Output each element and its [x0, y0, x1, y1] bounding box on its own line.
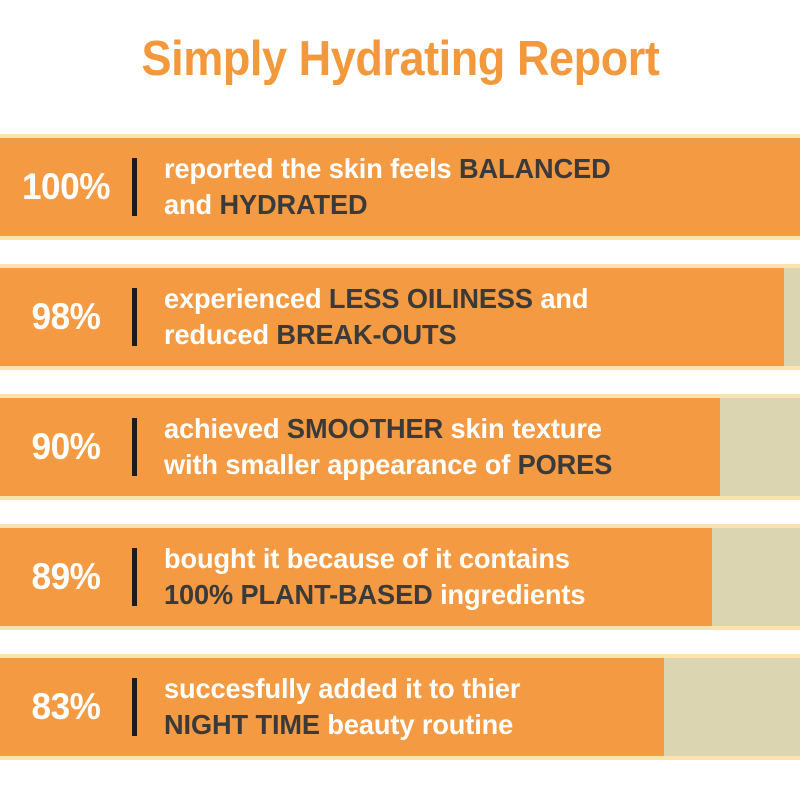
stat-divider — [132, 548, 137, 606]
stat-text-emphasis: NIGHT TIME — [164, 709, 320, 740]
stat-description: succesfully added it to thier NIGHT TIME… — [164, 671, 781, 743]
stat-text-plain: succesfully added it to thier — [164, 673, 520, 704]
stat-description: experienced LESS OILINESS and reduced BR… — [164, 281, 781, 353]
stat-text-plain: ingredients — [433, 579, 586, 610]
stat-description: bought it because of it contains 100% PL… — [164, 541, 781, 613]
stat-line-1: achieved SMOOTHER skin texture — [164, 413, 602, 444]
stat-text-emphasis: PORES — [518, 449, 613, 480]
stat-line-2: 100% PLANT-BASED ingredients — [164, 579, 585, 610]
stat-row: 83% succesfully added it to thier NIGHT … — [0, 654, 800, 760]
stat-content: 83% succesfully added it to thier NIGHT … — [0, 658, 800, 756]
stat-line-2: reduced BREAK-OUTS — [164, 319, 457, 350]
stat-line-2: and HYDRATED — [164, 189, 368, 220]
stat-description: reported the skin feels BALANCED and HYD… — [164, 151, 781, 223]
stat-text-plain: beauty routine — [320, 709, 513, 740]
stat-content: 90% achieved SMOOTHER skin texture with … — [0, 398, 800, 496]
title-area: Simply Hydrating Report — [0, 0, 800, 118]
stat-divider — [132, 158, 137, 216]
stat-percent: 90% — [3, 426, 128, 468]
stat-description: achieved SMOOTHER skin texture with smal… — [164, 411, 781, 483]
stat-text-plain: skin texture — [443, 413, 602, 444]
stat-percent: 89% — [3, 556, 128, 598]
stat-content: 89% bought it because of it contains 100… — [0, 528, 800, 626]
stat-text-plain: bought it because of it contains — [164, 543, 570, 574]
stat-text-plain: achieved — [164, 413, 287, 444]
stat-percent: 83% — [3, 686, 128, 728]
stat-text-plain: experienced — [164, 283, 329, 314]
stat-row: 98% experienced LESS OILINESS and reduce… — [0, 264, 800, 370]
stat-line-1: experienced LESS OILINESS and — [164, 283, 588, 314]
stat-divider — [132, 678, 137, 736]
stat-divider — [132, 418, 137, 476]
stat-row: 89% bought it because of it contains 100… — [0, 524, 800, 630]
stat-row: 90% achieved SMOOTHER skin texture with … — [0, 394, 800, 500]
stats-list: 100% reported the skin feels BALANCED an… — [0, 118, 800, 760]
stat-text-plain: with smaller appearance of — [164, 449, 518, 480]
stat-text-emphasis: LESS OILINESS — [329, 283, 533, 314]
stat-percent: 98% — [3, 296, 128, 338]
stat-text-plain: and — [533, 283, 588, 314]
stat-text-emphasis: HYDRATED — [219, 189, 367, 220]
stat-text-emphasis: 100% PLANT-BASED — [164, 579, 433, 610]
stat-line-1: succesfully added it to thier — [164, 673, 520, 704]
stat-line-2: NIGHT TIME beauty routine — [164, 709, 513, 740]
stat-text-emphasis: SMOOTHER — [287, 413, 443, 444]
infographic-root: Simply Hydrating Report 100% reported th… — [0, 0, 800, 800]
stat-divider — [132, 288, 137, 346]
stat-content: 100% reported the skin feels BALANCED an… — [0, 138, 800, 236]
stat-text-plain: and — [164, 189, 219, 220]
stat-percent: 100% — [3, 166, 128, 208]
stat-text-emphasis: BREAK-OUTS — [276, 319, 456, 350]
stat-text-plain: reported the skin feels — [164, 153, 459, 184]
page-title: Simply Hydrating Report — [141, 35, 659, 84]
stat-line-1: reported the skin feels BALANCED — [164, 153, 611, 184]
stat-row: 100% reported the skin feels BALANCED an… — [0, 134, 800, 240]
stat-line-2: with smaller appearance of PORES — [164, 449, 612, 480]
stat-text-emphasis: BALANCED — [459, 153, 611, 184]
stat-content: 98% experienced LESS OILINESS and reduce… — [0, 268, 800, 366]
stat-text-plain: reduced — [164, 319, 276, 350]
stat-line-1: bought it because of it contains — [164, 543, 570, 574]
